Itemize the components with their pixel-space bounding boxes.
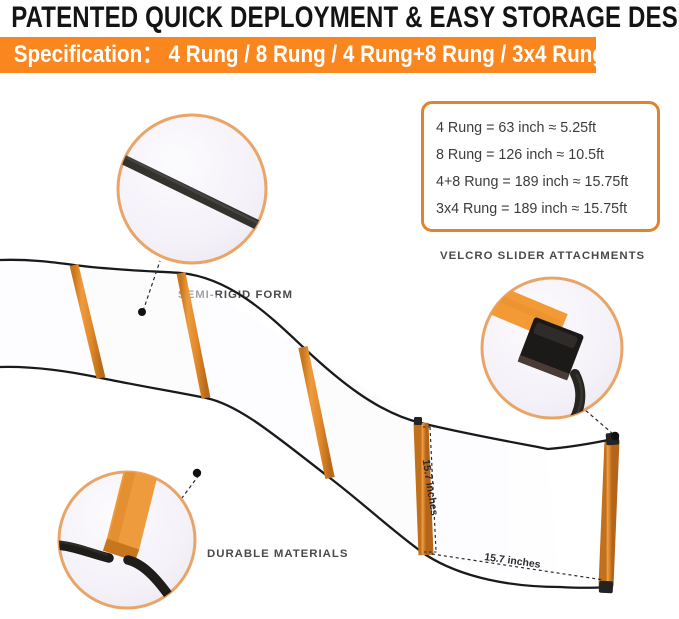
page-title: PATENTED QUICK DEPLOYMENT & EASY STORAGE… <box>0 3 679 33</box>
callout-anchor-dot <box>193 469 201 477</box>
specification-banner: Specification： 4 Rung / 8 Rung / 4 Rung+… <box>0 37 596 73</box>
semi-rigid-rope-end-cap <box>110 155 118 159</box>
callout-durable-materials <box>56 464 201 608</box>
ladder-rung <box>606 440 612 586</box>
ladder-rail-right-upper <box>548 439 613 449</box>
product-illustration: 15.7 inches 15.7 inches <box>0 78 679 619</box>
title-bar: PATENTED QUICK DEPLOYMENT & EASY STORAGE… <box>0 0 679 36</box>
velcro-tab-icon <box>599 581 614 594</box>
velcro-tab-icon <box>414 417 422 425</box>
durable-rung-end <box>119 544 123 556</box>
callout-anchor-dot <box>611 432 619 440</box>
callout-anchor-dot <box>138 308 146 316</box>
specification-banner-text: Specification： 4 Rung / 8 Rung / 4 Rung+… <box>0 43 605 67</box>
